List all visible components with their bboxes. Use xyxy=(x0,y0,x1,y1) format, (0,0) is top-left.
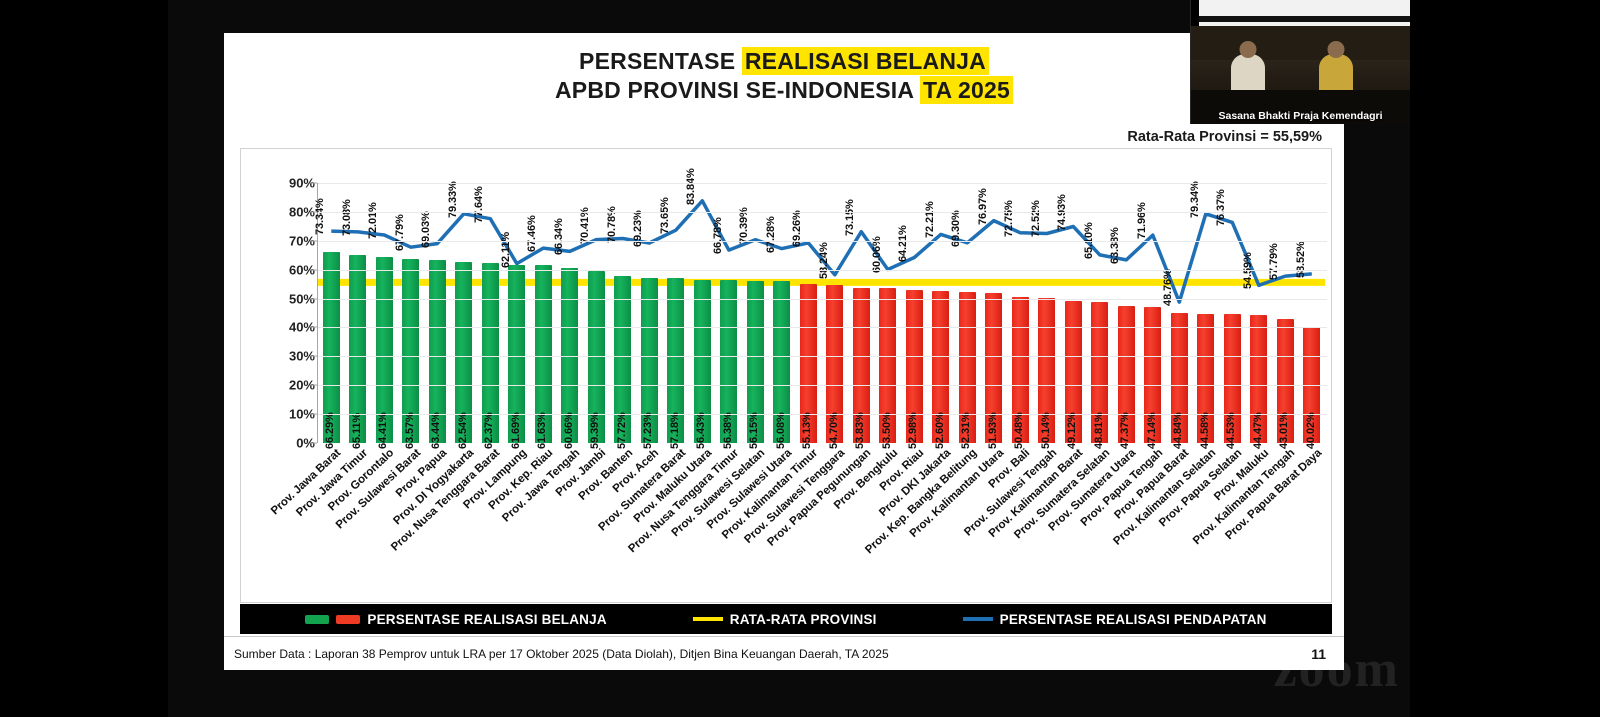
bar-value-label: 47.14% xyxy=(1146,412,1158,449)
line-value-label: 72.75% xyxy=(1003,200,1015,237)
y-tick-label: 10% xyxy=(259,407,315,422)
line-value-label: 63.38% xyxy=(1109,227,1121,264)
video-pip[interactable]: Sasana Bhakti Praja Kemendagri xyxy=(1190,0,1410,124)
title-line-2-plain: APBD PROVINSI SE-INDONESIA xyxy=(555,77,920,103)
bar-value-label: 53.50% xyxy=(881,412,893,449)
bar-value-label: 55.13% xyxy=(801,412,813,449)
line-value-label: 67.46% xyxy=(526,215,538,252)
bar-value-label: 62.37% xyxy=(483,412,495,449)
line-value-label: 77.64% xyxy=(473,186,485,223)
bar-value-label: 56.38% xyxy=(722,412,734,449)
y-tick-mark xyxy=(311,240,317,241)
slide: PERSENTASE REALISASI BELANJA APBD PROVIN… xyxy=(224,33,1344,670)
title-line-1: PERSENTASE REALISASI BELANJA xyxy=(224,47,1344,76)
pip-wall xyxy=(1191,26,1410,60)
legend-label-belanja: PERSENTASE REALISASI BELANJA xyxy=(367,612,606,627)
plot-canvas: 66.29%65.11%64.41%63.57%63.44%62.54%62.3… xyxy=(318,183,1325,443)
bar-value-label: 56.08% xyxy=(775,412,787,449)
gridline xyxy=(318,299,1327,300)
pip-head-right xyxy=(1328,41,1345,58)
y-tick-mark xyxy=(311,385,317,386)
bar-value-label: 47.37% xyxy=(1119,412,1131,449)
y-tick-mark xyxy=(311,443,317,444)
gridline xyxy=(318,385,1327,386)
y-tick-label: 70% xyxy=(259,233,315,248)
bar-value-label: 57.18% xyxy=(669,412,681,449)
bar-value-label: 52.31% xyxy=(960,412,972,449)
bar-value-label: 49.12% xyxy=(1066,412,1078,449)
gridline xyxy=(318,270,1327,271)
legend-label-pendapatan: PERSENTASE REALISASI PENDAPATAN xyxy=(1000,612,1267,627)
bar-value-label: 62.54% xyxy=(457,412,469,449)
bar-value-label: 63.57% xyxy=(404,412,416,449)
screen-root: zoom PERSENTASE REALISASI BELANJA APBD P… xyxy=(0,0,1600,717)
y-tick-label: 20% xyxy=(259,378,315,393)
bar-value-label: 44.47% xyxy=(1252,412,1264,449)
line-value-label: 76.37% xyxy=(1215,190,1227,227)
bar-value-label: 52.98% xyxy=(907,412,919,449)
legend-item-pendapatan: PERSENTASE REALISASI PENDAPATAN xyxy=(963,612,1267,627)
title-line-1-highlight: REALISASI BELANJA xyxy=(742,47,989,75)
line-value-label: 72.01% xyxy=(367,202,379,239)
bar-value-label: 57.72% xyxy=(616,412,628,449)
legend-item-rata-rata: RATA-RATA PROVINSI xyxy=(693,612,877,627)
source-text: Sumber Data : Laporan 38 Pemprov untuk L… xyxy=(224,647,889,661)
chart-area: 90%80%70%60%50%40%30%20%10%0% 66.29%65.1… xyxy=(240,148,1332,603)
line-value-label: 73.34% xyxy=(314,198,326,235)
legend-swatch-blue xyxy=(963,617,993,621)
x-axis-labels: Prov. Jawa BaratProv. Jawa TimurProv. Go… xyxy=(318,447,1325,577)
pip-head-left xyxy=(1240,41,1257,58)
letterbox-left xyxy=(0,0,168,717)
line-value-label: 66.78% xyxy=(712,217,724,254)
line-value-label: 60.06% xyxy=(871,237,883,274)
bar-value-label: 44.53% xyxy=(1225,412,1237,449)
bar-value-label: 61.63% xyxy=(536,412,548,449)
legend-swatch-green xyxy=(305,615,329,624)
y-tick-mark xyxy=(311,414,317,415)
line-value-label: 73.15% xyxy=(844,199,856,236)
line-value-label: 58.24% xyxy=(818,242,830,279)
chart-legend: PERSENTASE REALISASI BELANJA RATA-RATA P… xyxy=(240,604,1332,634)
pip-slide-legend-strip xyxy=(1191,16,1410,22)
y-tick-label: 60% xyxy=(259,262,315,277)
gridline xyxy=(318,414,1327,415)
y-tick-label: 80% xyxy=(259,204,315,219)
line-value-label: 67.28% xyxy=(765,216,777,253)
pip-speaker-left xyxy=(1231,54,1265,94)
line-value-label: 62.11% xyxy=(500,231,512,267)
y-tick-label: 0% xyxy=(259,436,315,451)
bar-value-label: 57.23% xyxy=(642,412,654,449)
slide-footer: Sumber Data : Laporan 38 Pemprov untuk L… xyxy=(224,636,1344,670)
gridline xyxy=(318,241,1327,242)
line-value-label: 72.21% xyxy=(924,202,936,239)
title-line-2: APBD PROVINSI SE-INDONESIA TA 2025 xyxy=(224,76,1344,105)
line-value-label: 48.76% xyxy=(1162,269,1174,306)
y-tick-label: 90% xyxy=(259,176,315,191)
line-value-label: 66.34% xyxy=(553,219,565,256)
line-value-label: 73.65% xyxy=(659,198,671,235)
line-value-label: 58.52% xyxy=(1295,241,1307,278)
line-value-label: 72.52% xyxy=(1030,201,1042,238)
letterbox-right xyxy=(1410,0,1600,717)
y-tick-label: 50% xyxy=(259,291,315,306)
legend-item-belanja: PERSENTASE REALISASI BELANJA xyxy=(305,612,606,627)
line-value-label: 83.84% xyxy=(685,168,697,205)
bar-value-label: 44.84% xyxy=(1172,412,1184,449)
y-tick-label: 40% xyxy=(259,320,315,335)
bar-value-label: 63.44% xyxy=(430,412,442,449)
bar-value-label: 44.58% xyxy=(1199,412,1211,449)
gridline xyxy=(318,327,1327,328)
average-note: Rata-Rata Provinsi = 55,59% xyxy=(1127,129,1322,145)
pip-caption: Sasana Bhakti Praja Kemendagri xyxy=(1191,110,1410,122)
legend-swatch-red xyxy=(336,615,360,624)
bar-value-label: 50.48% xyxy=(1013,412,1025,449)
bar-value-label: 56.15% xyxy=(748,412,760,449)
gridline xyxy=(318,356,1327,357)
y-tick-mark xyxy=(311,211,317,212)
line-value-label: 69.03% xyxy=(420,211,432,248)
y-tick-mark xyxy=(311,269,317,270)
bar-value-label: 65.11% xyxy=(351,413,363,449)
y-tick-label: 30% xyxy=(259,349,315,364)
y-tick-mark xyxy=(311,327,317,328)
bar-value-label: 43.01% xyxy=(1278,412,1290,449)
title-line-2-highlight: TA 2025 xyxy=(920,76,1013,104)
slide-title: PERSENTASE REALISASI BELANJA APBD PROVIN… xyxy=(224,47,1344,106)
gridline xyxy=(318,212,1327,213)
legend-swatch-yellow xyxy=(693,617,723,621)
line-value-label: 57.79% xyxy=(1268,243,1280,280)
bar-value-label: 54.70% xyxy=(828,412,840,449)
y-tick-mark xyxy=(311,356,317,357)
page-number: 11 xyxy=(1311,646,1326,662)
bar-value-label: 50.14% xyxy=(1040,412,1052,449)
bar-value-label: 60.66% xyxy=(563,412,575,449)
gridline xyxy=(318,183,1327,184)
legend-label-rata-rata: RATA-RATA PROVINSI xyxy=(730,612,877,627)
bar-value-label: 59.39% xyxy=(589,412,601,449)
title-line-1-plain: PERSENTASE xyxy=(579,48,742,74)
bar-value-label: 51.93% xyxy=(987,412,999,449)
line-value-label: 73.08% xyxy=(341,199,353,236)
line-value-label: 71.96% xyxy=(1136,202,1148,239)
pip-projected-slide xyxy=(1191,0,1410,26)
bar-value-label: 64.41% xyxy=(377,412,389,449)
y-tick-mark xyxy=(311,183,317,184)
y-axis-labels: 90%80%70%60%50%40%30%20%10%0% xyxy=(259,183,315,443)
bar-value-label: 61.69% xyxy=(510,412,522,449)
line-value-label: 76.97% xyxy=(977,188,989,225)
bar-value-label: 48.81% xyxy=(1093,412,1105,449)
bar-value-label: 53.83% xyxy=(854,412,866,449)
bar-value-label: 52.60% xyxy=(934,412,946,449)
line-value-label: 54.59% xyxy=(1242,253,1254,290)
bar-value-label: 56.43% xyxy=(695,412,707,449)
bar-value-label: 66.29% xyxy=(324,412,336,449)
line-value-label: 64.21% xyxy=(897,225,909,262)
bar-value-label: 40.02% xyxy=(1305,412,1317,449)
pip-speaker-right xyxy=(1319,54,1353,94)
line-value-label: 67.79% xyxy=(394,214,406,251)
y-tick-mark xyxy=(311,298,317,299)
